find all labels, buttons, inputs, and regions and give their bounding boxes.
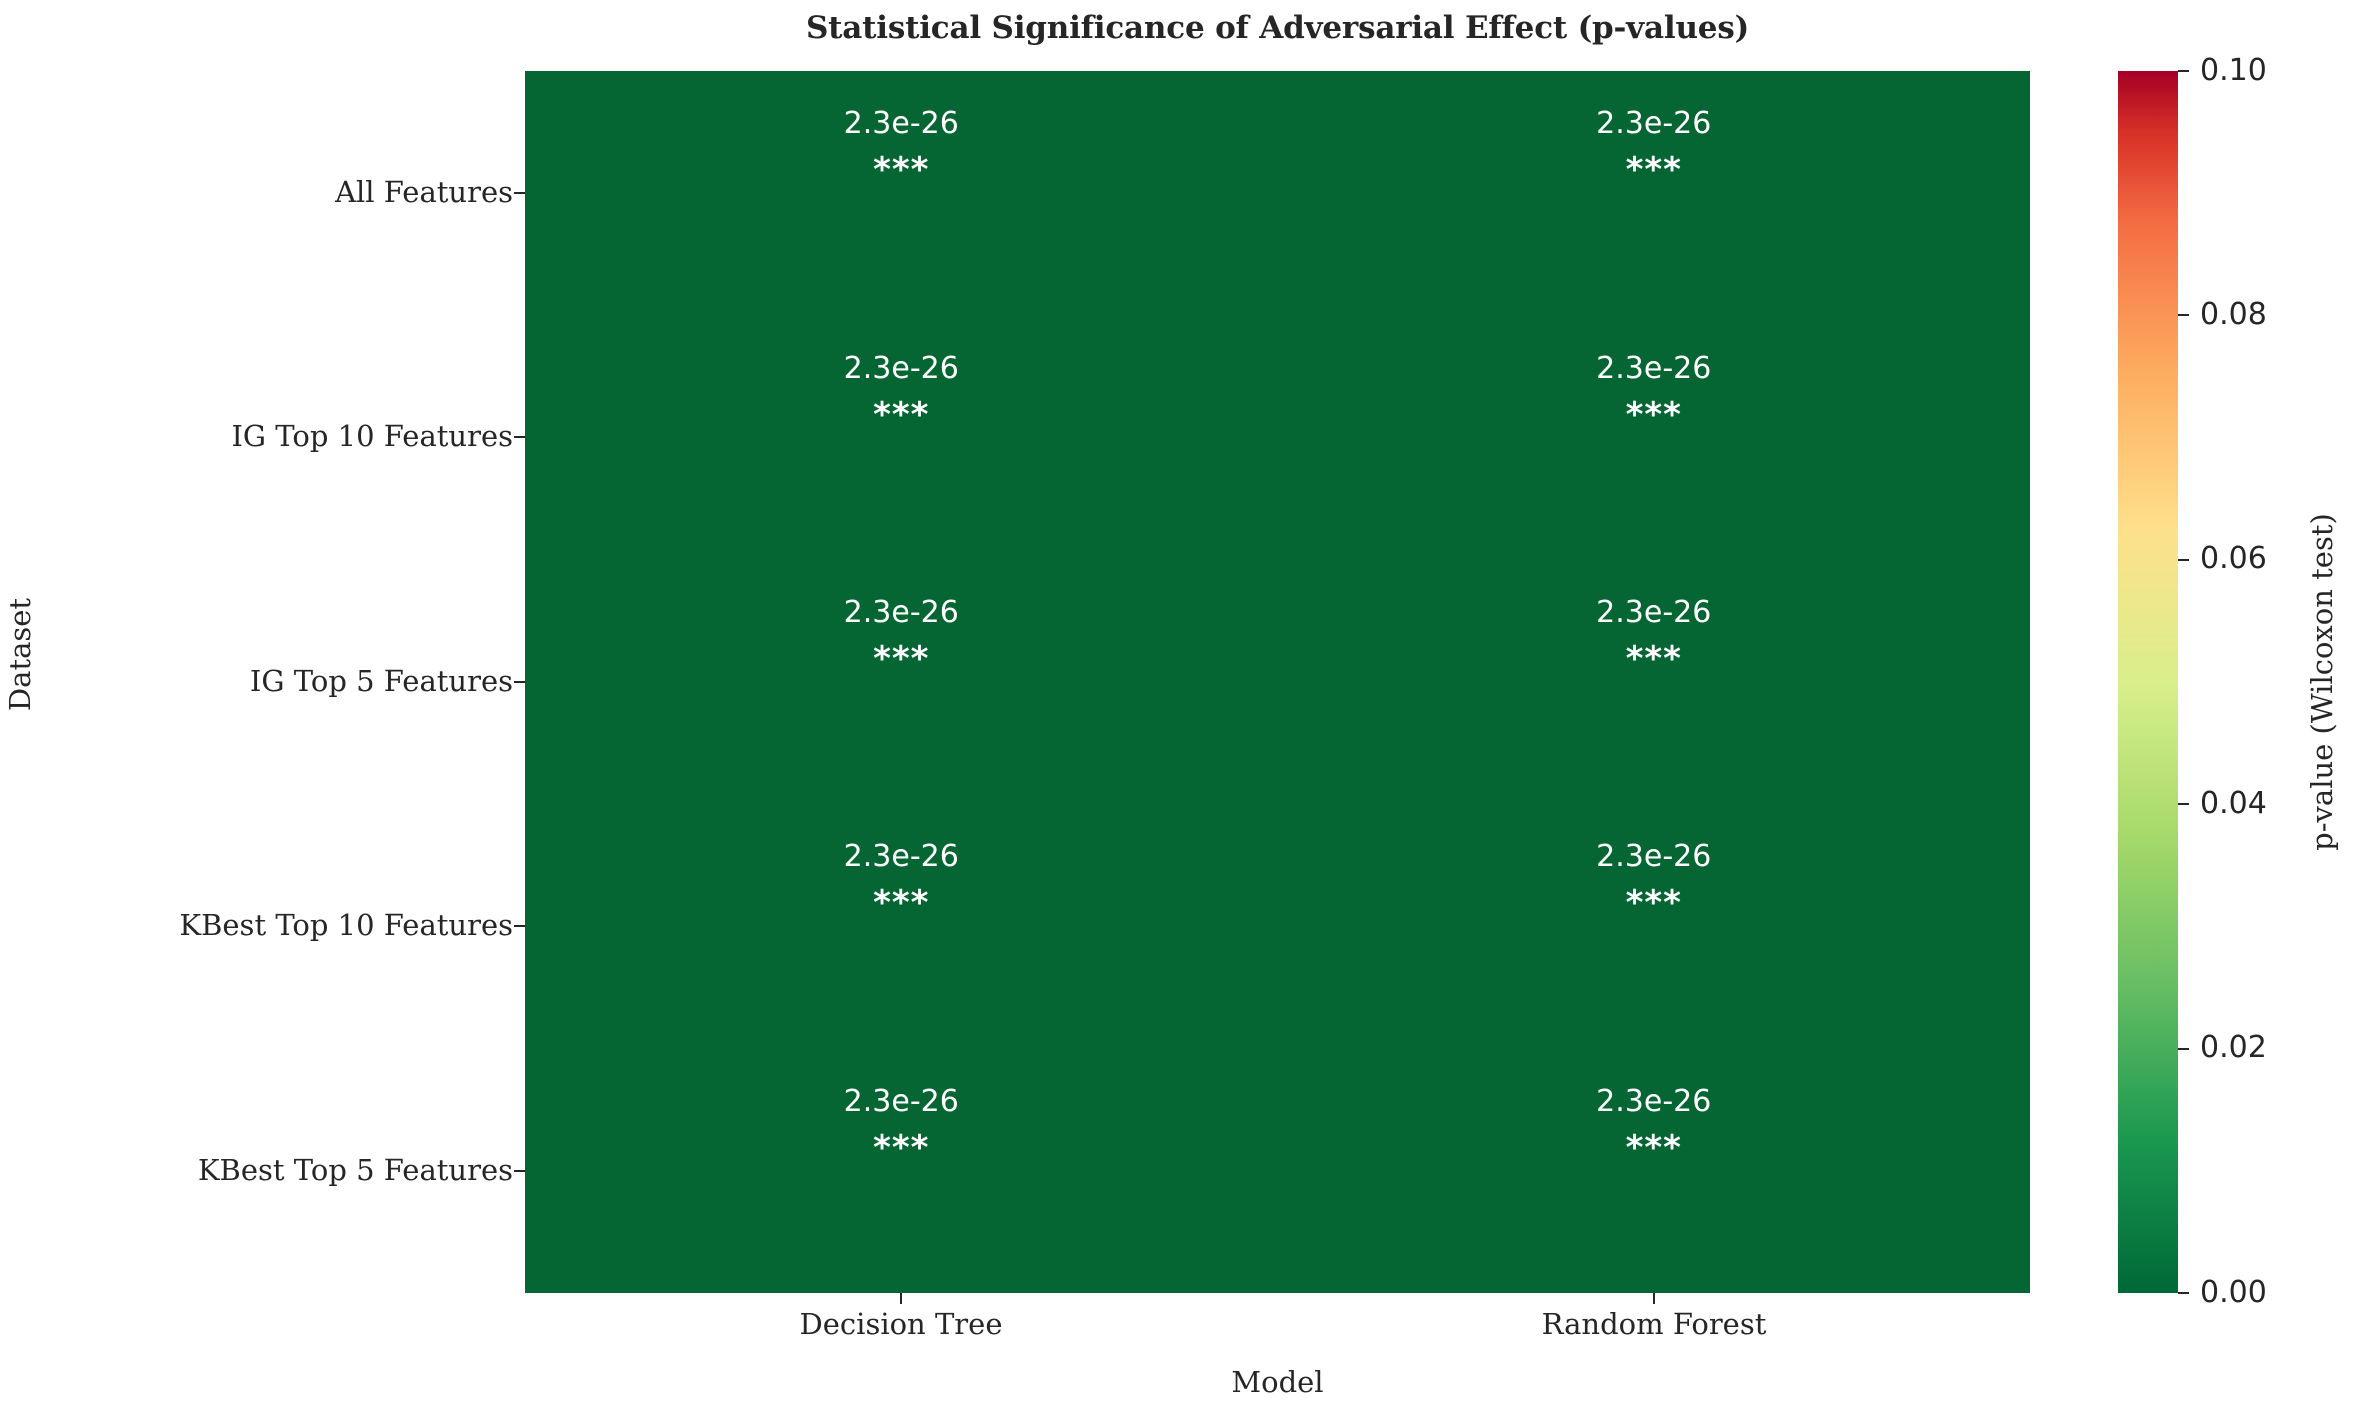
y-tick-mark [514, 1170, 525, 1172]
heatmap-cell-kbest-top-10-features-random-forest[interactable]: 2.3e-26 *** [1278, 804, 2031, 1048]
cell-significance-stars: *** [525, 153, 1278, 187]
colorbar-tick-mark [2178, 1048, 2189, 1050]
colorbar-tick-label-010: 0.10 [2200, 53, 2267, 88]
x-axis-label: Model [525, 1365, 2030, 1399]
cell-significance-stars: *** [525, 398, 1278, 432]
x-tick-label-decision-tree: Decision Tree [800, 1307, 1003, 1341]
heatmap-plot-area: 2.3e-26 *** 2.3e-26 *** 2.3e-26 *** 2.3e… [525, 71, 2030, 1293]
cell-content: 2.3e-26 *** [1278, 804, 2031, 1048]
colorbar-tick-label-000: 0.00 [2200, 1275, 2267, 1310]
cell-pvalue-text: 2.3e-26 [1278, 354, 2031, 384]
colorbar-tick-label-004: 0.04 [2200, 786, 2267, 821]
cell-pvalue-text: 2.3e-26 [525, 109, 1278, 139]
colorbar-axis-label-text: p-value (Wilcoxon test) [2305, 513, 2339, 851]
cell-content: 2.3e-26 *** [525, 315, 1278, 559]
cell-significance-stars: *** [1278, 398, 2031, 432]
colorbar-tick-mark [2178, 1292, 2189, 1294]
cell-content: 2.3e-26 *** [1278, 71, 2031, 315]
cell-content: 2.3e-26 *** [1278, 315, 2031, 559]
heatmap-cell-ig-top-5-features-random-forest[interactable]: 2.3e-26 *** [1278, 560, 2031, 804]
cell-pvalue-text: 2.3e-26 [525, 354, 1278, 384]
cell-content: 2.3e-26 *** [1278, 1049, 2031, 1293]
x-tick-mark [1653, 1293, 1655, 1304]
cell-significance-stars: *** [1278, 153, 2031, 187]
cell-pvalue-text: 2.3e-26 [1278, 109, 2031, 139]
cell-content: 2.3e-26 *** [1278, 560, 2031, 804]
y-tick-label-ig-top-5-features: IG Top 5 Features [250, 664, 513, 698]
cell-pvalue-text: 2.3e-26 [1278, 598, 2031, 628]
colorbar-tick-mark [2178, 559, 2189, 561]
cell-content: 2.3e-26 *** [525, 560, 1278, 804]
heatmap-cell-kbest-top-10-features-decision-tree[interactable]: 2.3e-26 *** [525, 804, 1278, 1048]
colorbar-axis-label: p-value (Wilcoxon test) [2300, 71, 2344, 1293]
chart-title: Statistical Significance of Adversarial … [525, 10, 2030, 46]
x-tick-mark [900, 1293, 902, 1304]
heatmap-cell-kbest-top-5-features-random-forest[interactable]: 2.3e-26 *** [1278, 1049, 2031, 1293]
y-tick-label-kbest-top-5-features: KBest Top 5 Features [198, 1153, 513, 1187]
heatmap-cell-ig-top-10-features-decision-tree[interactable]: 2.3e-26 *** [525, 315, 1278, 559]
y-tick-mark [514, 681, 525, 683]
cell-content: 2.3e-26 *** [525, 71, 1278, 315]
heatmap-cell-kbest-top-5-features-decision-tree[interactable]: 2.3e-26 *** [525, 1049, 1278, 1293]
cell-pvalue-text: 2.3e-26 [1278, 1087, 2031, 1117]
y-tick-mark [514, 925, 525, 927]
cell-significance-stars: *** [1278, 642, 2031, 676]
cell-pvalue-text: 2.3e-26 [525, 842, 1278, 872]
cell-significance-stars: *** [525, 1131, 1278, 1165]
colorbar-gradient [2118, 71, 2178, 1293]
cell-pvalue-text: 2.3e-26 [525, 598, 1278, 628]
colorbar-tick-label-008: 0.08 [2200, 297, 2267, 332]
y-tick-label-ig-top-10-features: IG Top 10 Features [231, 419, 513, 453]
heatmap-cell-ig-top-5-features-decision-tree[interactable]: 2.3e-26 *** [525, 560, 1278, 804]
colorbar-tick-mark [2178, 314, 2189, 316]
y-axis-label: Dataset [0, 0, 40, 1419]
y-tick-mark [514, 436, 525, 438]
cell-pvalue-text: 2.3e-26 [525, 1087, 1278, 1117]
cell-significance-stars: *** [1278, 1131, 2031, 1165]
colorbar-tick-label-006: 0.06 [2200, 541, 2267, 576]
cell-content: 2.3e-26 *** [525, 804, 1278, 1048]
colorbar-tick-mark [2178, 70, 2189, 72]
y-axis-label-text: Dataset [3, 598, 37, 711]
cell-content: 2.3e-26 *** [525, 1049, 1278, 1293]
heatmap-cell-ig-top-10-features-random-forest[interactable]: 2.3e-26 *** [1278, 315, 2031, 559]
x-tick-label-random-forest: Random Forest [1542, 1307, 1767, 1341]
figure-canvas: Statistical Significance of Adversarial … [0, 0, 2353, 1419]
cell-pvalue-text: 2.3e-26 [1278, 842, 2031, 872]
y-tick-label-kbest-top-10-features: KBest Top 10 Features [179, 908, 513, 942]
colorbar[interactable]: 0.00 0.02 0.04 0.06 0.08 0.10 [2118, 71, 2178, 1293]
heatmap-cell-all-features-random-forest[interactable]: 2.3e-26 *** [1278, 71, 2031, 315]
y-tick-mark [514, 192, 525, 194]
colorbar-tick-label-002: 0.02 [2200, 1030, 2267, 1065]
cell-significance-stars: *** [525, 642, 1278, 676]
y-tick-label-all-features: All Features [335, 175, 513, 209]
heatmap-cell-all-features-decision-tree[interactable]: 2.3e-26 *** [525, 71, 1278, 315]
colorbar-tick-mark [2178, 803, 2189, 805]
cell-significance-stars: *** [1278, 886, 2031, 920]
cell-significance-stars: *** [525, 886, 1278, 920]
